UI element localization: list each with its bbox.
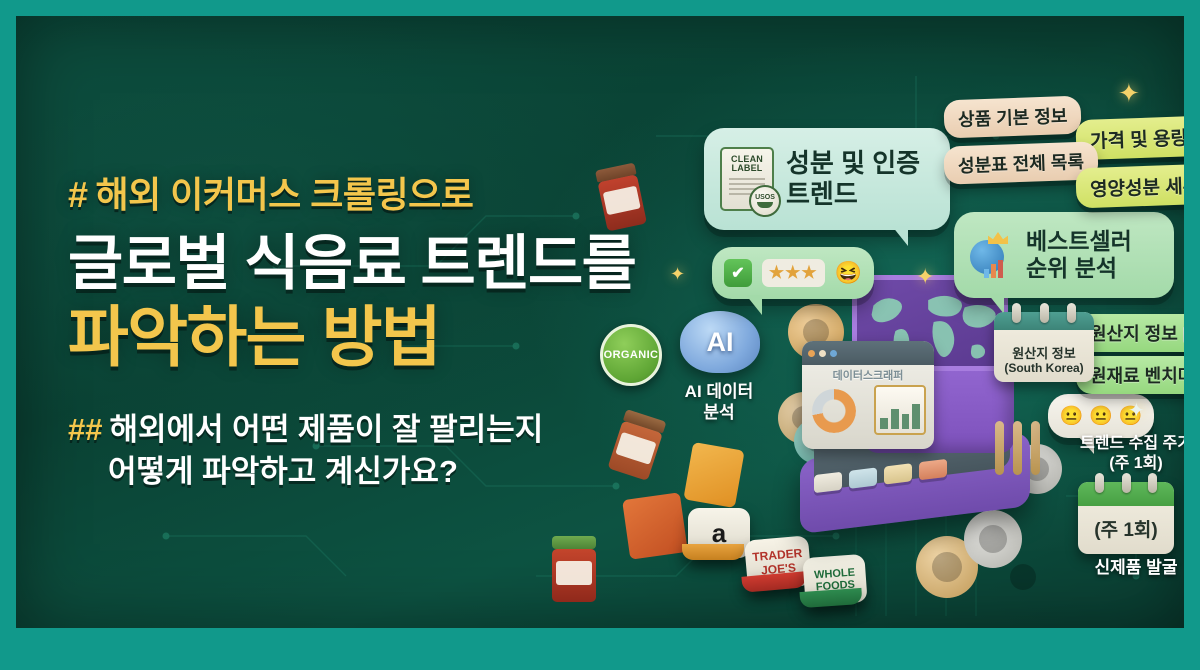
poster-panel: #해외 이커머스 크롤링으로 글로벌 식음료 트렌드를 파악하는 방법 ##해외… [16, 16, 1184, 628]
frequency-calendar-text: (주 1회) [1094, 520, 1157, 542]
snack-bag-orange-icon [622, 492, 688, 559]
clean-label-badge: CLEAN LABEL USOS [720, 147, 774, 211]
usos-seal-icon: USOS [749, 185, 781, 217]
usos-seal-label: USOS [755, 194, 775, 201]
clean-label-line-2: LABEL [726, 164, 768, 173]
brand-tile-whole-foods-base [800, 588, 863, 608]
bubble-bestseller-rank: 베스트셀러 순위 분석 [954, 212, 1174, 298]
machine-dashboard-panel: 데이터스크래퍼 [802, 341, 934, 449]
origin-calendar-text: 원산지 정보 (South Korea) [1004, 347, 1083, 376]
ai-analysis-label: AI 데이터 분석 [664, 382, 774, 423]
bubble-review-signals: ✔ ★★★ 😆 [712, 247, 874, 299]
bubble-bestseller-line-2: 순위 분석 [1026, 255, 1132, 282]
headline-line-2: 파악하는 방법 [68, 301, 678, 375]
double-hash-symbol: ## [68, 412, 102, 447]
origin-calendar-card: 원산지 정보 (South Korea) [994, 312, 1094, 382]
machine-pipes [995, 421, 1040, 475]
new-product-label: 신제품 발굴 [1066, 558, 1184, 579]
subheadline-text-1: 해외에서 어떤 제품이 잘 팔리는지 [109, 412, 543, 447]
frequency-calendar-card: (주 1회) [1078, 482, 1174, 554]
tag-full-ingredient-list[interactable]: 성분표 전체 목록 [943, 141, 1098, 184]
tag-nutrition-detail[interactable]: 영양성분 세부 [1075, 164, 1184, 209]
neutral-emoji-icon-1: 😐 [1059, 404, 1083, 428]
bubble-tail [746, 295, 762, 315]
check-icon: ✔ [724, 259, 752, 287]
organic-badge-label: ORGANIC [604, 349, 659, 361]
calendar-rings [1078, 473, 1174, 493]
origin-calendar-line-1: 원산지 정보 [1004, 347, 1083, 362]
star-rating-icon: ★★★ [762, 259, 825, 287]
ai-badge-label: AI [680, 311, 760, 373]
calendar-rings [994, 303, 1094, 323]
globe-crown-chart-icon [970, 232, 1016, 278]
poster-canvas: #해외 이커머스 크롤링으로 글로벌 식음료 트렌드를 파악하는 방법 ##해외… [0, 0, 1200, 670]
origin-calendar-line-2: (South Korea) [1004, 362, 1083, 376]
salsa-jar-bottom-icon [552, 536, 596, 602]
ai-brain-icon: AI [680, 311, 760, 373]
sparkle-icon-bottom-right: ✦ [1128, 398, 1145, 423]
bubble-bestseller-text: 베스트셀러 순위 분석 [1026, 228, 1132, 282]
bubble-bestseller-line-1: 베스트셀러 [1026, 228, 1132, 255]
bubble-ingredient-line-2: 트렌드 [786, 179, 920, 210]
dashboard-title: 데이터스크래퍼 [802, 367, 934, 383]
sparkle-icon-mid: ✦ [916, 264, 934, 290]
headline-line-1: 글로벌 식음료 트렌드를 [68, 230, 678, 297]
bubble-tail [892, 226, 908, 246]
hash-symbol: # [68, 174, 88, 215]
sparkle-icon-left: ✦ [670, 264, 685, 285]
kicker-text: 해외 이커머스 크롤링으로 [96, 174, 474, 215]
donut-chart-icon [812, 389, 856, 433]
bubble-ingredient-text: 성분 및 인증 트렌드 [786, 148, 920, 209]
tag-basic-info[interactable]: 상품 기본 정보 [943, 96, 1082, 139]
laughing-emoji-icon: 😆 [835, 260, 862, 286]
subheadline-line-2: 어떻게 파악하고 계신가요? [68, 451, 678, 493]
neutral-emoji-icon-2: 😐 [1089, 404, 1113, 428]
bubble-ingredient-trend: CLEAN LABEL USOS 성분 및 인증 트렌드 [704, 128, 950, 230]
kicker-line: #해외 이커머스 크롤링으로 [68, 166, 678, 218]
subheadline-line-1: ##해외에서 어떤 제품이 잘 팔리는지 [68, 409, 678, 451]
trend-cycle-label: 트렌드 수집 주기 (주 1회) [1056, 434, 1184, 473]
brand-tile-amazon-base [682, 544, 744, 560]
dashboard-titlebar [802, 341, 934, 365]
mini-bar-chart-icon [874, 385, 926, 435]
sparkle-icon-top-right: ✦ [1118, 78, 1140, 109]
subheadline-block: ##해외에서 어떤 제품이 잘 팔리는지 어떻게 파악하고 계신가요? [68, 409, 678, 493]
headline-block: #해외 이커머스 크롤링으로 글로벌 식음료 트렌드를 파악하는 방법 ##해외… [68, 166, 678, 493]
organic-badge: ORGANIC [600, 324, 662, 386]
bubble-ingredient-line-1: 성분 및 인증 [786, 148, 920, 179]
snack-bag-yellow-icon [683, 442, 744, 508]
